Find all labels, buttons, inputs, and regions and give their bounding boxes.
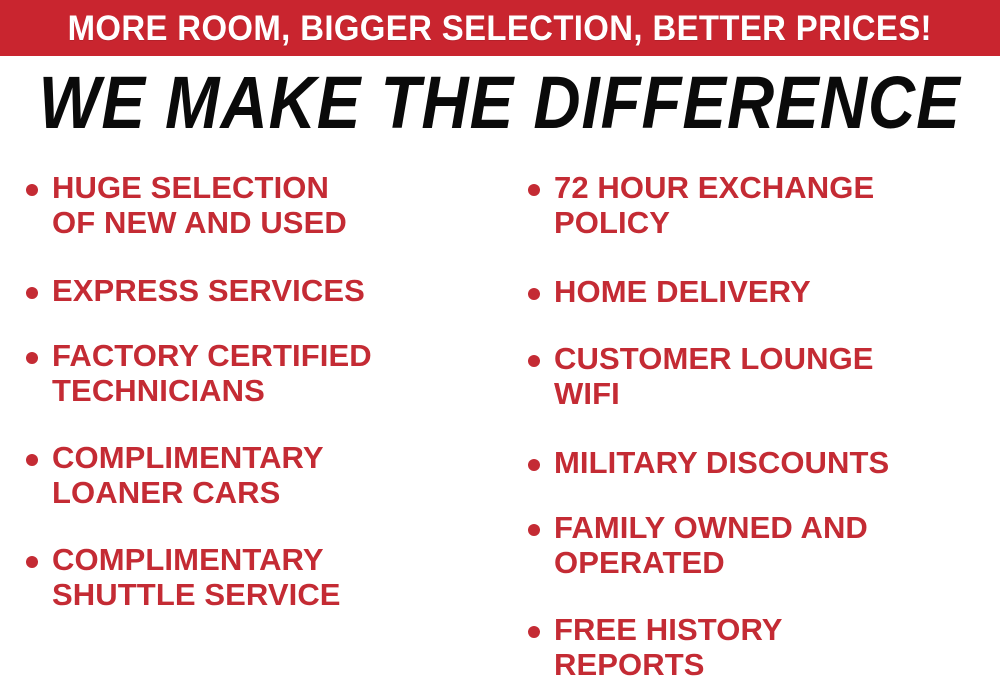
- list-item: HUGE SELECTION OF NEW AND USED: [16, 170, 500, 240]
- list-item: 72 HOUR EXCHANGE POLICY: [518, 170, 1000, 240]
- benefits-columns: HUGE SELECTION OF NEW AND USED EXPRESS S…: [0, 152, 1000, 694]
- promo-poster: MORE ROOM, BIGGER SELECTION, BETTER PRIC…: [0, 0, 1000, 694]
- list-item: CUSTOMER LOUNGE WIFI: [518, 341, 1000, 411]
- list-item: HOME DELIVERY: [518, 274, 1000, 309]
- benefits-column-left: HUGE SELECTION OF NEW AND USED EXPRESS S…: [0, 152, 500, 694]
- list-item: COMPLIMENTARY LOANER CARS: [16, 440, 500, 510]
- page-title: WE MAKE THE DIFFERENCE: [39, 65, 961, 139]
- list-item: COMPLIMENTARY SHUTTLE SERVICE: [16, 542, 500, 612]
- list-item: EXPRESS SERVICES: [16, 273, 500, 308]
- banner-headline-text: MORE ROOM, BIGGER SELECTION, BETTER PRIC…: [68, 11, 932, 46]
- headline-container: WE MAKE THE DIFFERENCE: [0, 60, 1000, 144]
- list-item: FACTORY CERTIFIED TECHNICIANS: [16, 338, 500, 408]
- benefits-column-right: 72 HOUR EXCHANGE POLICY HOME DELIVERY CU…: [500, 152, 1000, 694]
- list-item: MILITARY DISCOUNTS: [518, 445, 1000, 480]
- list-item: FREE HISTORY REPORTS: [518, 612, 1000, 682]
- top-banner: MORE ROOM, BIGGER SELECTION, BETTER PRIC…: [0, 0, 1000, 56]
- list-item: FAMILY OWNED AND OPERATED: [518, 510, 1000, 580]
